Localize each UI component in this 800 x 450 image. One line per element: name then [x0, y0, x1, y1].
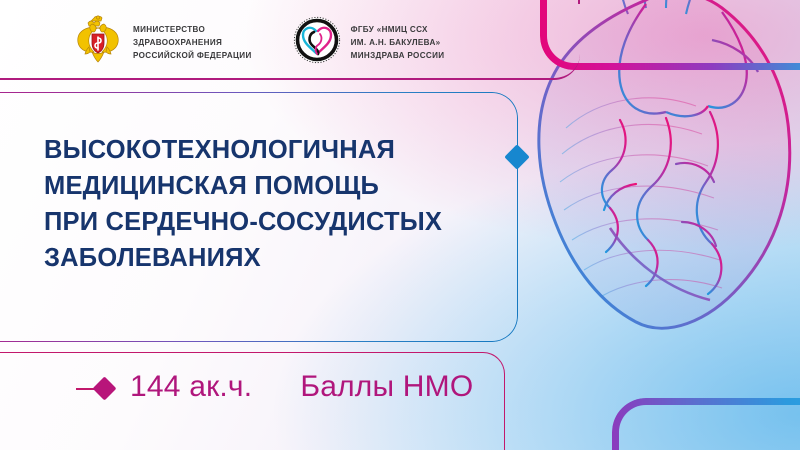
russian-federation-coat-of-arms-icon — [72, 14, 124, 71]
ministry-logo-line-2: ЗДРАВООХРАНЕНИЯ — [133, 36, 252, 49]
logo-row: МИНИСТЕРСТВО ЗДРАВООХРАНЕНИЯ РОССИЙСКОЙ … — [72, 14, 444, 71]
bakulev-center-emblem-icon — [292, 15, 342, 70]
slide-canvas: МИНИСТЕРСТВО ЗДРАВООХРАНЕНИЯ РОССИЙСКОЙ … — [0, 0, 800, 450]
bakulev-logo-line-3: МИНЗДРАВА РОССИИ — [351, 49, 445, 62]
header-frame-edge — [578, 0, 580, 4]
logo-bakulev-center: ФГБУ «НМИЦ ССХ ИМ. А.Н. БАКУЛЕВА» МИНЗДР… — [292, 15, 445, 70]
nmo-points-label: Баллы НМО — [300, 370, 473, 404]
page-title-line-2: МЕДИЦИНСКАЯ ПОМОЩЬ — [44, 169, 504, 205]
ministry-logo-line-1: МИНИСТЕРСТВО — [133, 23, 252, 36]
bakulev-logo-text: ФГБУ «НМИЦ ССХ ИМ. А.Н. БАКУЛЕВА» МИНЗДР… — [351, 23, 445, 62]
academic-hours-label: 144 ак.ч. — [130, 370, 252, 404]
footer-info-row: 144 ак.ч. Баллы НМО — [130, 370, 473, 404]
page-title-line-3: ПРИ СЕРДЕЧНО-СОСУДИСТЫХ — [44, 205, 504, 241]
logo-ministry-of-health: МИНИСТЕРСТВО ЗДРАВООХРАНЕНИЯ РОССИЙСКОЙ … — [72, 14, 252, 71]
ministry-logo-line-3: РОССИЙСКОЙ ФЕДЕРАЦИИ — [133, 49, 252, 62]
page-title: ВЫСОКОТЕХНОЛОГИЧНАЯ МЕДИЦИНСКАЯ ПОМОЩЬ П… — [44, 133, 504, 277]
page-title-line-4: ЗАБОЛЕВАНИЯХ — [44, 241, 504, 277]
bakulev-logo-line-1: ФГБУ «НМИЦ ССХ — [351, 23, 445, 36]
ministry-logo-text: МИНИСТЕРСТВО ЗДРАВООХРАНЕНИЯ РОССИЙСКОЙ … — [133, 23, 252, 62]
decor-pipe-bottom-right — [612, 398, 800, 450]
page-title-line-1: ВЫСОКОТЕХНОЛОГИЧНАЯ — [44, 133, 504, 169]
bakulev-logo-line-2: ИМ. А.Н. БАКУЛЕВА» — [351, 36, 445, 49]
